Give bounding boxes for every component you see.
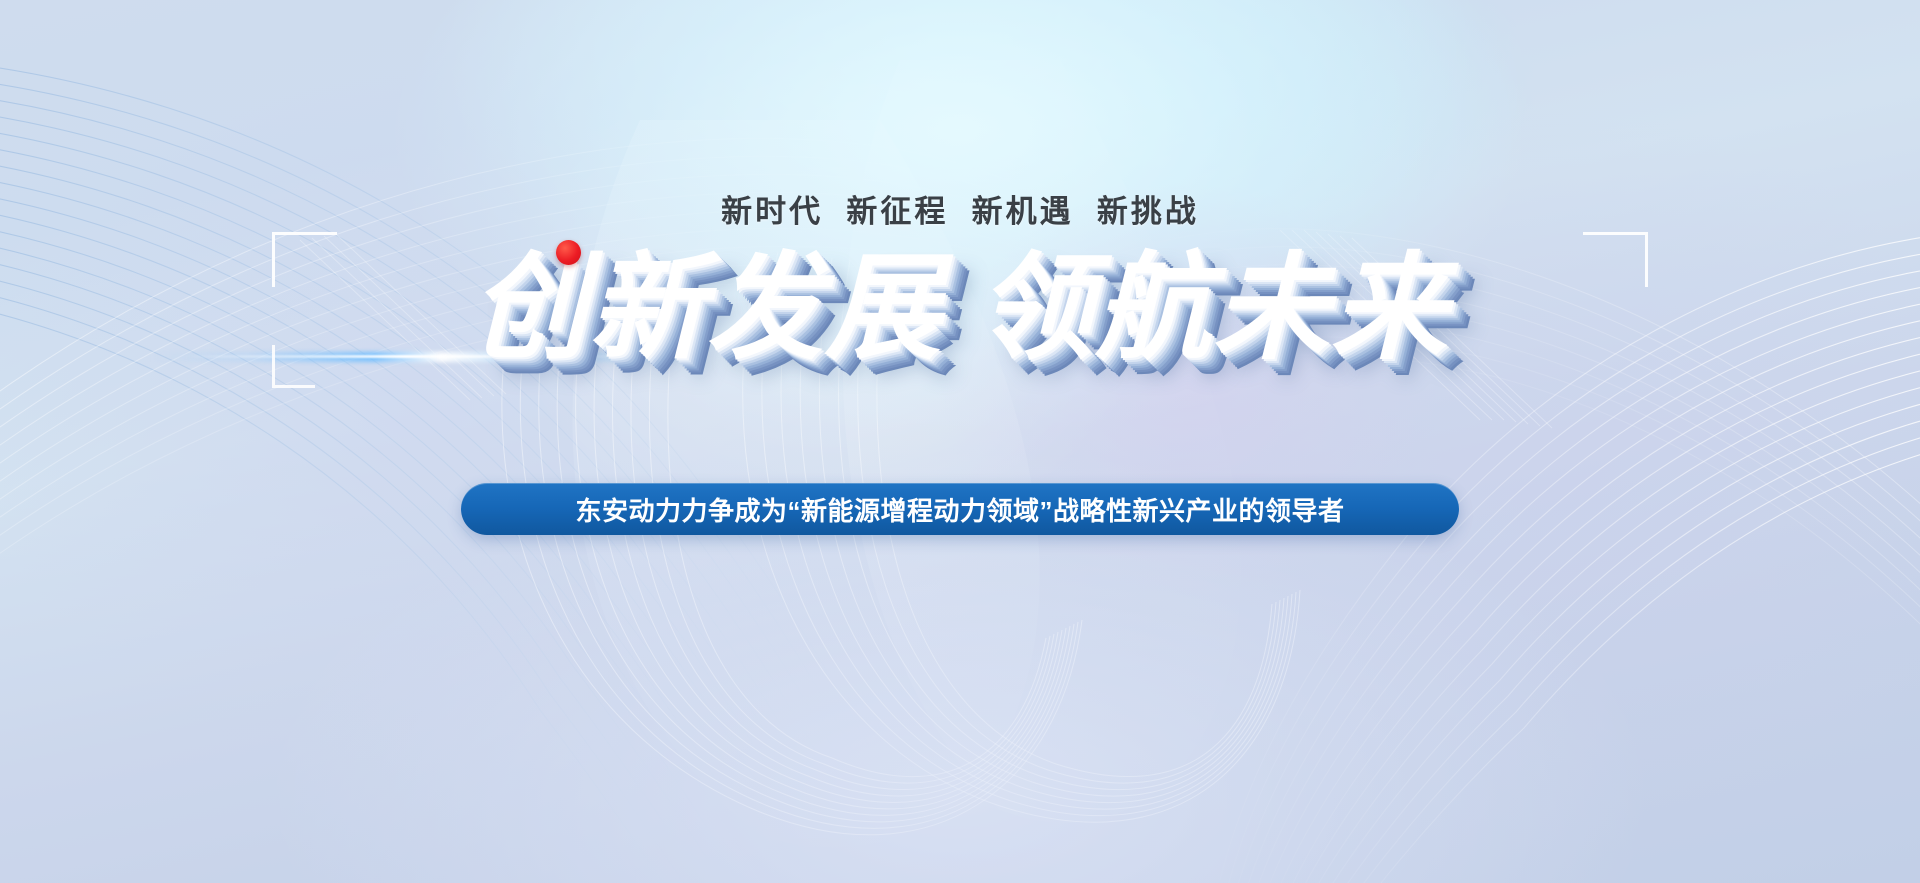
mission-badge-text: 东安动力力争成为“新能源增程动力领域”战略性新兴产业的领导者 (575, 491, 1344, 528)
headline-segment-2: 领航未来 (977, 241, 1449, 376)
promo-banner: 新时代 新征程 新机遇 新挑战 创新发展领航未来 东安动力力争成为“新能源增程动… (0, 0, 1920, 883)
banner-content: 新时代 新征程 新机遇 新挑战 创新发展领航未来 东安动力力争成为“新能源增程动… (0, 0, 1920, 883)
mission-badge[interactable]: 东安动力力争成为“新能源增程动力领域”战略性新兴产业的领导者 (461, 483, 1459, 535)
kicker-slogan: 新时代 新征程 新机遇 新挑战 (0, 186, 1920, 231)
headline-text: 创新发展领航未来 (0, 234, 1920, 384)
headline-block: 创新发展领航未来 (0, 234, 1920, 384)
red-dot-accent-icon (556, 240, 581, 265)
headline-segment-1: 创新发展 (471, 241, 943, 376)
